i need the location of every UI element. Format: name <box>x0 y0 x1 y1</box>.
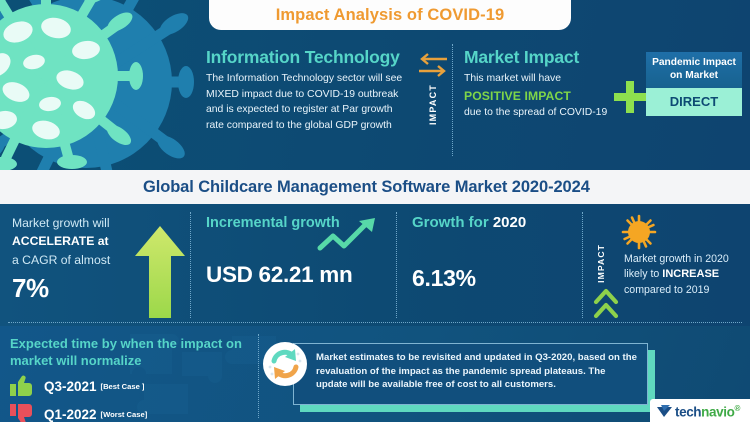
impact-2020-highlight: INCREASE <box>662 268 719 280</box>
market-impact-body: This market will have POSITIVE IMPACT du… <box>464 71 614 121</box>
page-title: Impact Analysis of COVID-19 <box>276 6 505 25</box>
refresh-cycle-icon <box>262 341 308 387</box>
double-chevron-up-icon <box>593 286 619 320</box>
normalize-best-label: Q3-2021 <box>44 379 97 394</box>
note-box: Market estimates to be revisited and upd… <box>293 343 648 405</box>
pandemic-impact-box: Pandemic Impact on Market DIRECT <box>646 52 742 116</box>
arrow-up-icon <box>135 226 185 318</box>
market-title: Global Childcare Management Software Mar… <box>143 178 590 197</box>
thumbs-up-icon <box>10 375 36 397</box>
thumbs-down-icon <box>10 403 36 422</box>
it-body: The Information Technology sector will s… <box>206 71 411 133</box>
infographic-page: Impact Analysis of COVID-19 Information … <box>0 0 750 422</box>
impact-2020-label: IMPACT <box>596 244 606 283</box>
impact-label-top: IMPACT <box>428 84 438 125</box>
market-impact-highlight: POSITIVE IMPACT <box>464 89 571 103</box>
sun-virus-icon <box>620 213 658 251</box>
normalize-block: Expected time by when the impact on mark… <box>10 335 255 422</box>
logo-text-navio: navio <box>701 404 734 419</box>
market-impact-line1: This market will have <box>464 73 561 84</box>
technavio-logo: technavio® <box>650 399 750 422</box>
growth-2020-heading: Growth for 2020 <box>412 214 587 231</box>
market-title-band: Global Childcare Management Software Mar… <box>0 170 750 204</box>
normalize-row-best: Q3-2021 [Best Case ] <box>10 375 255 397</box>
metrics-divider-2 <box>396 212 397 318</box>
technavio-wordmark: technavio® <box>675 404 740 420</box>
note-text: Market estimates to be revisited and upd… <box>316 351 637 392</box>
divider-dotted-top <box>452 44 453 156</box>
technavio-logo-icon <box>657 405 672 418</box>
logo-text-tech: tech <box>675 404 701 419</box>
bottom-divider-dotted <box>258 334 259 418</box>
growth-2020-metric: Growth for 2020 6.13% <box>412 214 587 292</box>
market-impact-line2: due to the spread of COVID-19 <box>464 107 607 118</box>
growth-2020-heading-part1: Growth for <box>412 214 493 231</box>
normalize-heading: Expected time by when the impact on mark… <box>10 335 255 369</box>
impact-divider-top: IMPACT <box>413 48 453 153</box>
market-impact-block: Market Impact This market will have POSI… <box>464 47 614 121</box>
page-title-banner: Impact Analysis of COVID-19 <box>209 0 571 30</box>
bidirectional-arrows-icon <box>416 52 450 78</box>
impact-2020-block: IMPACT Market growth in 2020 likely to I… <box>592 210 750 326</box>
cagr-line1: Market growth will <box>12 216 110 230</box>
impact-2020-line2: compared to 2019 <box>624 284 709 296</box>
growth-2020-heading-part2: 2020 <box>493 214 526 231</box>
normalize-worst-label: Q1-2022 <box>44 407 97 422</box>
pandemic-impact-value: DIRECT <box>646 88 742 116</box>
normalize-best-case: [Best Case ] <box>101 382 145 391</box>
cagr-line3: a CAGR of almost <box>12 253 110 267</box>
normalize-row-worst: Q1-2022 [Worst Case] <box>10 403 255 422</box>
trend-line-icon <box>317 216 379 258</box>
information-technology-block: Information Technology The Information T… <box>206 47 411 133</box>
plus-icon <box>613 80 647 114</box>
growth-2020-value: 6.13% <box>412 265 587 292</box>
incremental-growth-value: USD 62.21 mn <box>206 262 396 288</box>
cagr-line2: ACCELERATE at <box>12 234 109 248</box>
impact-2020-text: Market growth in 2020 likely to INCREASE… <box>624 252 746 298</box>
normalize-worst-case: [Worst Case] <box>101 410 148 419</box>
market-impact-heading: Market Impact <box>464 47 614 68</box>
logo-registered-mark: ® <box>734 404 740 413</box>
pandemic-impact-heading: Pandemic Impact on Market <box>646 52 742 88</box>
it-heading: Information Technology <box>206 47 411 68</box>
